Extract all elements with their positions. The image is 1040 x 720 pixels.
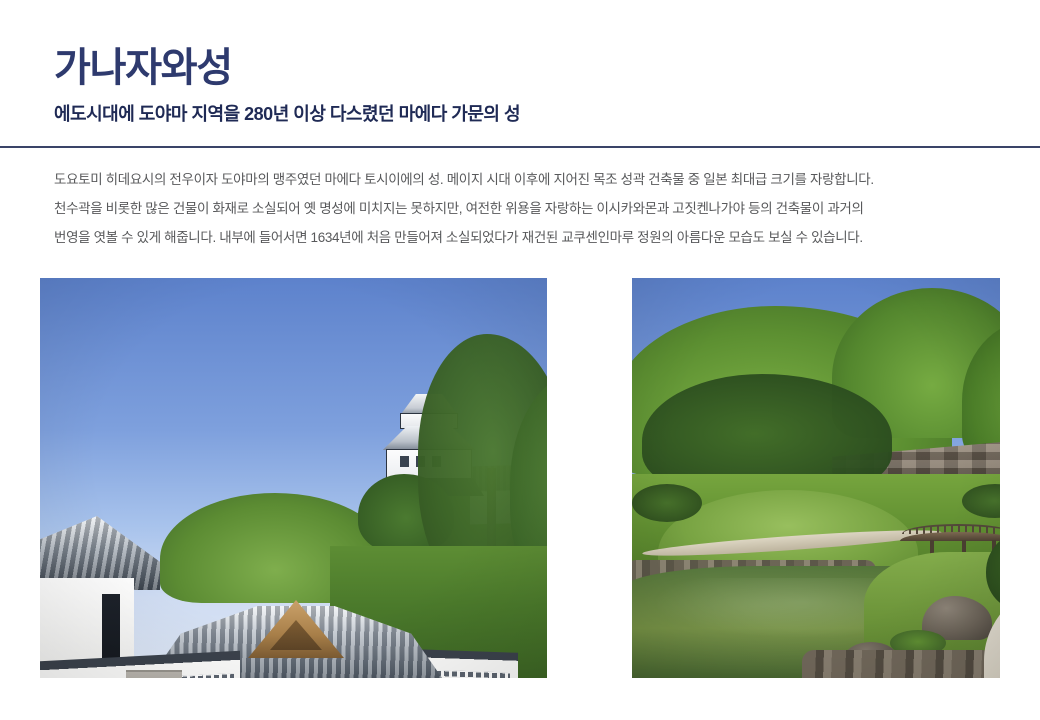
- photo-gallery: [0, 262, 1040, 662]
- gyokusen-inmaru-garden-photo: [632, 278, 1000, 678]
- description-line-1: 도요토미 히데요시의 전우이자 도야마의 맹주였던 마에다 토시이에의 성. 메…: [54, 165, 990, 194]
- ishikawa-mon-gate-photo: [40, 278, 547, 678]
- page-subtitle: 에도시대에 도야마 지역을 280년 이상 다스렸던 마에다 가문의 성: [54, 102, 520, 126]
- shoreline-rocks: [802, 650, 1000, 678]
- description-line-3: 번영을 엿볼 수 있게 해줍니다. 내부에 들어서면 1634년에 처음 만들어…: [54, 223, 990, 252]
- turret-window: [400, 456, 409, 467]
- pine-tree-left: [632, 484, 702, 522]
- description-line-2: 천수곽을 비롯한 많은 건물이 화재로 소실되어 옛 명성에 미치지는 못하지만…: [54, 194, 990, 223]
- cut-stone-pier: [126, 670, 182, 678]
- page-root: 가나자와성 에도시대에 도야마 지역을 280년 이상 다스렸던 마에다 가문의…: [0, 0, 1040, 720]
- header-divider: [0, 146, 1040, 148]
- description-paragraph: 도요토미 히데요시의 전우이자 도야마의 맹주였던 마에다 토시이에의 성. 메…: [54, 165, 990, 252]
- page-title: 가나자와성: [54, 45, 232, 91]
